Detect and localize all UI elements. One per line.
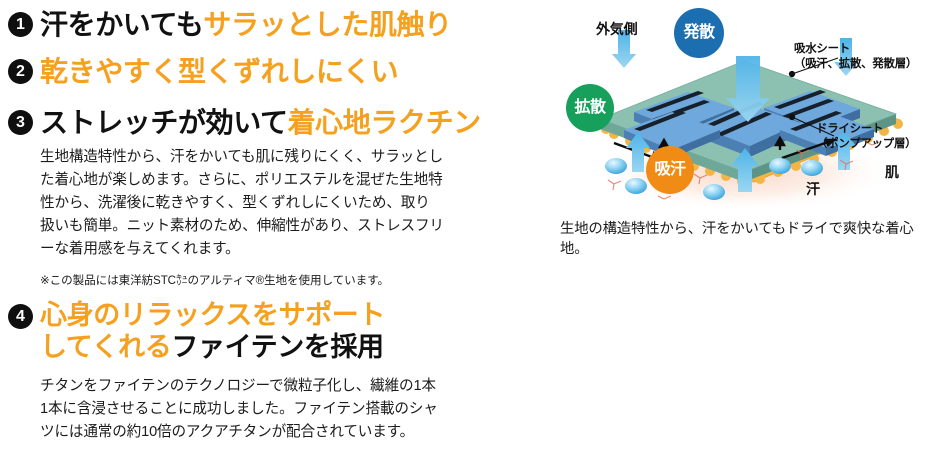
feature-1-headline-part-1: 汗をかいても [40,9,203,40]
feature-item-1: 1 汗をかいてもサラッとした肌触り [8,8,452,41]
feature-4-headline-line2-part-1: してくれる [40,332,171,362]
feature-1-headline-part-2: サラッとした肌触り [203,9,451,40]
badge-kakusan-diffusion: 拡散 [566,84,614,132]
callout-dry-sheet-line-2: （ポンプアップ層） [816,137,916,152]
callout-dry-sheet: ドライシート （ポンプアップ層） [816,122,916,153]
feature-3-headline-part-1: ストレッチが効いて [40,107,288,138]
diagram-caption: 生地の構造特性から、汗をかいてもドライで爽快な着心地。 [560,219,940,259]
feature-4-headline-line-1: 心身のリラックスをサポート [40,300,385,332]
feature-2-headline-part-1: 乾きやすく型くずれしにくい [40,56,398,87]
fabric-structure-illustration: 発散 拡散 吸汗 外気側 肌 汗 吸水シート （吸汗、拡散、発散層） ドライシー… [548,0,940,215]
label-skin: 肌 [885,163,899,181]
feature-1-number-badge: 1 [8,12,33,37]
feature-item-4: 4 心身のリラックスをサポート してくれるファイテンを採用 チタンをファイテンの… [8,300,440,445]
feature-3-footnote: ※この製品には東洋紡STC㌒のアルティマ®生地を使用しています。 [40,272,481,289]
feature-item-2: 2 乾きやすく型くずれしにくい [8,55,398,88]
feature-4-headline-block: 心身のリラックスをサポート してくれるファイテンを採用 [40,300,385,364]
feature-3-headline: ストレッチが効いて着心地ラクチン [40,106,481,139]
badge-hassan-evaporation: 発散 [674,8,724,58]
fabric-diagram-column: 発散 拡散 吸汗 外気側 肌 汗 吸水シート （吸汗、拡散、発散層） ドライシー… [548,0,940,468]
label-sweat: 汗 [806,180,820,198]
callout-absorbent-sheet-line-2: （吸汗、拡散、発散層） [794,57,917,72]
feature-2-number-badge: 2 [8,59,33,84]
feature-4-number-badge: 4 [8,304,33,329]
feature-2-headline: 乾きやすく型くずれしにくい [40,55,398,88]
feature-4-headline-line2-part-2: ファイテンを採用 [171,332,383,362]
label-outer-air: 外気側 [596,20,637,38]
feature-3-body-text: 生地構造特性から、汗をかいても肌に残りにくく、サラッとした着心地が楽しめます。さ… [40,146,444,261]
callout-absorbent-sheet: 吸水シート （吸汗、拡散、発散層） [794,42,917,73]
feature-1-headline-row: 1 汗をかいてもサラッとした肌触り [8,8,452,41]
feature-4-headline-row: 4 心身のリラックスをサポート してくれるファイテンを採用 [8,300,440,364]
feature-4-body-text: チタンをファイテンのテクノロジーで微粒子化し、繊維の1本1本に含浸させることに成… [40,375,440,445]
feature-3-headline-part-2: 着心地ラクチン [288,107,481,138]
badge-kyukan-absorption: 吸汗 [646,146,694,194]
feature-4-headline-line-2: してくれるファイテンを採用 [40,332,385,364]
features-column: 1 汗をかいてもサラッとした肌触り 2 乾きやすく型くずれしにくい 3 ストレッ… [0,0,540,468]
feature-4-headline-line1-part-1: 心身のリラックスをサポート [40,300,385,330]
feature-3-number-badge: 3 [8,110,33,135]
feature-item-3: 3 ストレッチが効いて着心地ラクチン 生地構造特性から、汗をかいても肌に残りにく… [8,106,481,290]
feature-3-headline-row: 3 ストレッチが効いて着心地ラクチン [8,106,481,139]
feature-2-headline-row: 2 乾きやすく型くずれしにくい [8,55,398,88]
callout-absorbent-sheet-line-1: 吸水シート [794,42,917,57]
callout-dry-sheet-line-1: ドライシート [816,122,916,137]
feature-1-headline: 汗をかいてもサラッとした肌触り [40,8,452,41]
